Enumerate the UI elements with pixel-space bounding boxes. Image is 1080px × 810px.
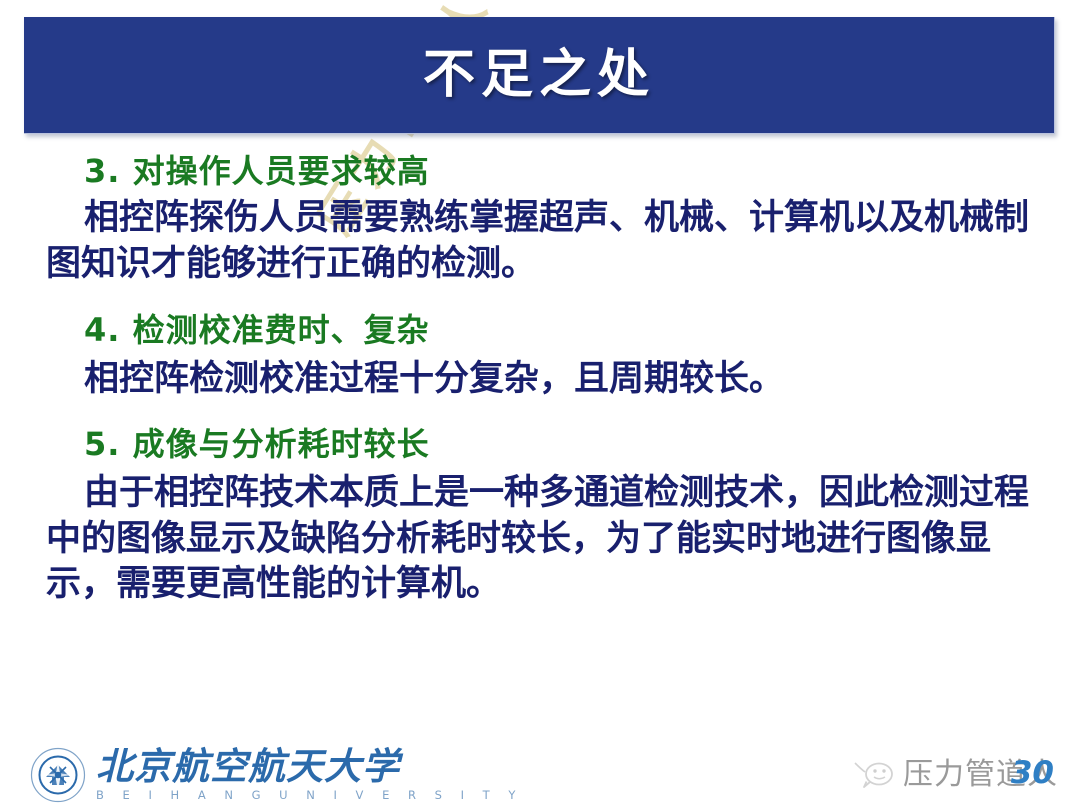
slide-title-bar: 不足之处 bbox=[24, 17, 1055, 134]
block-paragraph: 相控阵探伤人员需要熟练掌握超声、机械、计算机以及机械制图知识才能够进行正确的检测… bbox=[0, 196, 1080, 287]
page-title: 不足之处 bbox=[423, 49, 655, 101]
block-heading: 5. 成像与分析耗时较长 bbox=[0, 423, 1080, 465]
slide-content: 3. 对操作人员要求较高 相控阵探伤人员需要熟练掌握超声、机械、计算机以及机械制… bbox=[0, 150, 1080, 608]
content-block-5: 5. 成像与分析耗时较长 由于相控阵技术本质上是一种多通道检测技术，因此检测过程… bbox=[0, 423, 1080, 608]
content-block-4: 4. 检测校准费时、复杂 相控阵检测校准过程十分复杂，且周期较长。 bbox=[0, 309, 1080, 403]
university-wordmark: 北京航空航天大学 B E I H A N G U N I V E R S I T… bbox=[96, 748, 523, 802]
block-heading: 4. 检测校准费时、复杂 bbox=[0, 309, 1080, 351]
page-number: 30 bbox=[1011, 758, 1054, 789]
beihang-emblem-icon bbox=[30, 747, 86, 803]
university-name-en: B E I H A N G U N I V E R S I T Y bbox=[96, 790, 523, 802]
block-heading: 3. 对操作人员要求较高 bbox=[0, 150, 1080, 192]
university-name-cn: 北京航空航天大学 bbox=[96, 748, 523, 785]
content-block-3: 3. 对操作人员要求较高 相控阵探伤人员需要熟练掌握超声、机械、计算机以及机械制… bbox=[0, 150, 1080, 287]
block-paragraph: 由于相控阵技术本质上是一种多通道检测技术，因此检测过程中的图像显示及缺陷分析耗时… bbox=[0, 471, 1080, 608]
block-paragraph: 相控阵检测校准过程十分复杂，且周期较长。 bbox=[0, 357, 1080, 403]
university-logo: 北京航空航天大学 B E I H A N G U N I V E R S I T… bbox=[30, 746, 523, 804]
wechat-icon bbox=[851, 757, 899, 793]
slide-canvas: 压力管道人收集整理 不足之处 3. 对操作人员要求较高 相控阵探伤人员需要熟练掌… bbox=[0, 0, 1080, 810]
